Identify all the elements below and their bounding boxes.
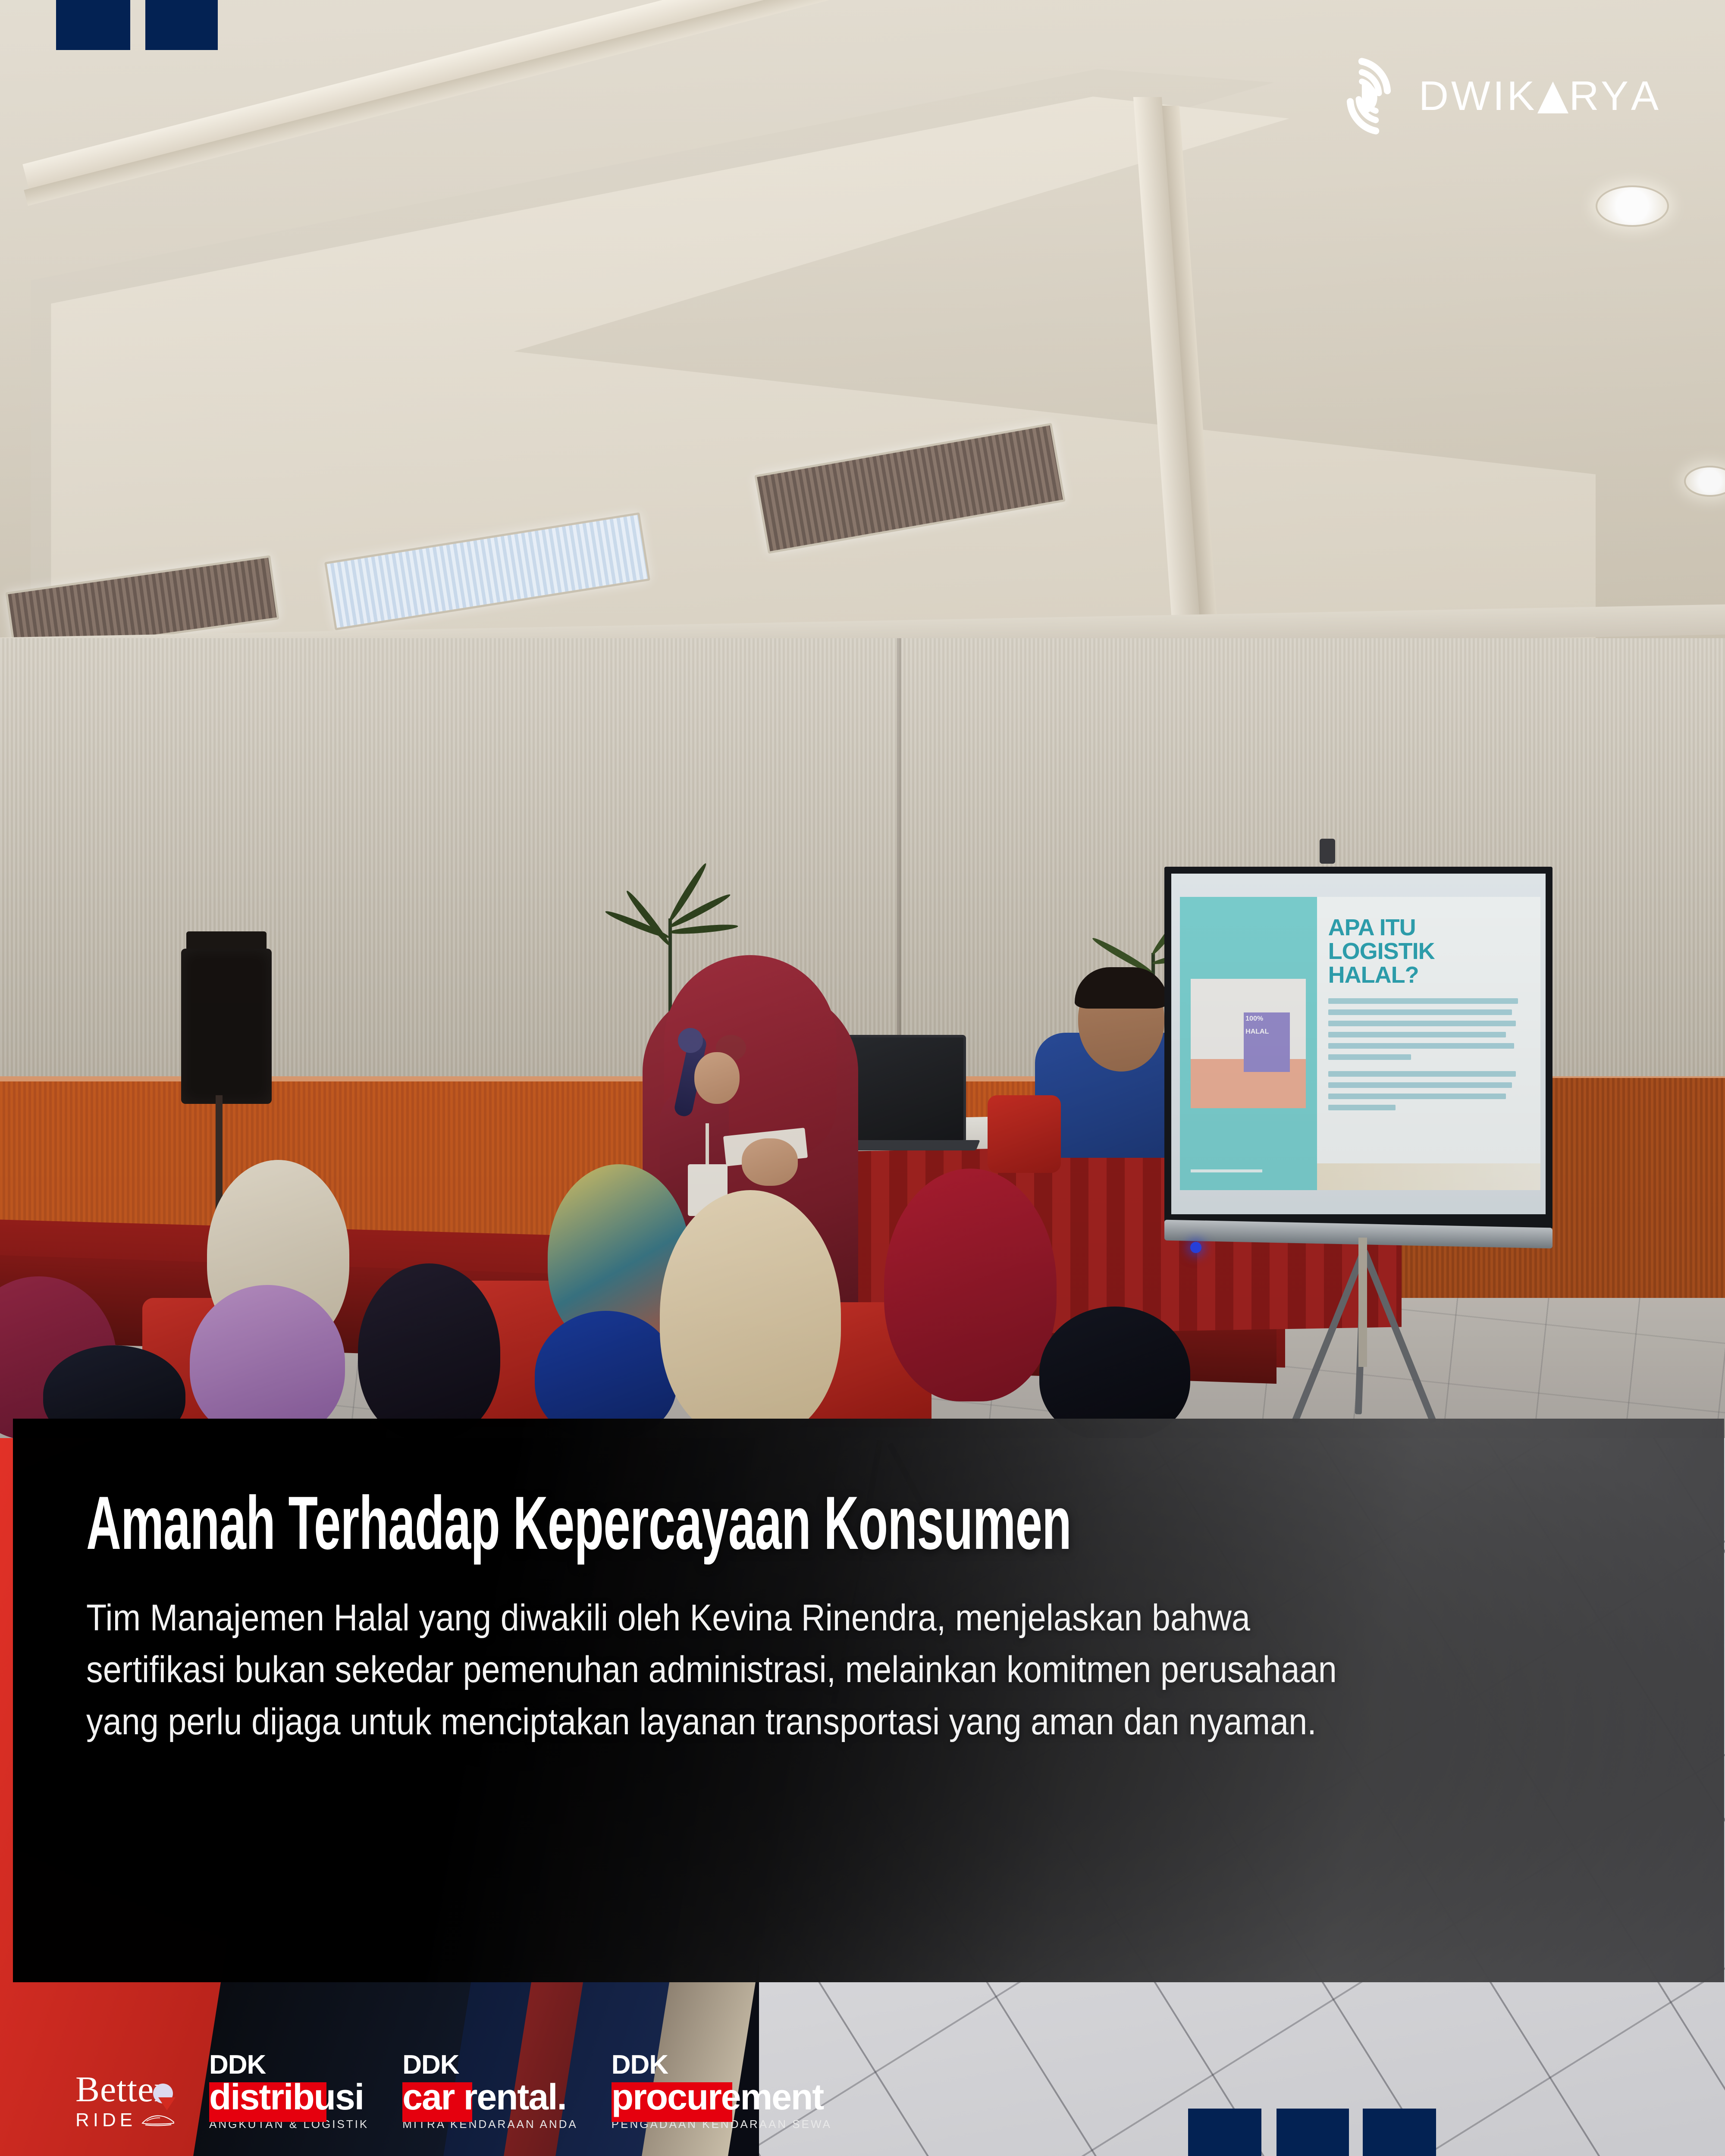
footer-logo-row: Better RIDE DDK distribusi ANGKUTAN & LO… xyxy=(75,2053,832,2131)
ceiling-downlight-1 xyxy=(1596,185,1669,227)
audience-head-4 xyxy=(358,1263,500,1438)
brand-name-part2: RY xyxy=(1569,72,1631,120)
better-ride-ribbon-icon xyxy=(158,2097,176,2110)
ddk-carrental-prefix: DDK xyxy=(402,2053,578,2078)
better-ride-logo: Better RIDE xyxy=(75,2073,176,2131)
audience-head-8 xyxy=(884,1169,1057,1401)
decor-square-bottom-2 xyxy=(1276,2109,1349,2156)
audience-head-7 xyxy=(660,1190,841,1438)
slide-paragraph-2 xyxy=(1328,1071,1526,1110)
ddk-distribusi-prefix: DDK xyxy=(209,2053,369,2078)
signal-waves-icon xyxy=(1330,55,1408,137)
halal-logo-icon: 100% HALAL xyxy=(1244,1012,1290,1072)
better-ride-subword: RIDE xyxy=(75,2109,136,2131)
ceiling-camera-icon xyxy=(1320,839,1335,864)
poster-canvas: 100% HALAL APA ITU LOGISTIK HALAL? xyxy=(0,0,1725,2156)
decor-square-bottom-3 xyxy=(1363,2109,1436,2156)
slide-title-line1: APA ITU xyxy=(1328,916,1526,940)
slide-title: APA ITU LOGISTIK HALAL? xyxy=(1328,916,1526,987)
slide-footer-bar xyxy=(1317,1163,1540,1190)
presenter-hand-holding-notes xyxy=(742,1138,798,1186)
halal-badge-line2: HALAL xyxy=(1244,1025,1290,1038)
halal-badge-line1: 100% xyxy=(1244,1012,1290,1025)
brand-name-part1: DWIK xyxy=(1419,72,1537,120)
dwikarya-wordmark: DWIKRYA xyxy=(1419,72,1661,120)
ddk-distribusi-logo: DDK distribusi ANGKUTAN & LOGISTIK xyxy=(209,2053,369,2131)
triangle-a-icon xyxy=(1537,81,1568,113)
ddk-carrental-logo: DDK car rental. MITRA KENDARAAN ANDA xyxy=(402,2053,578,2131)
presenter-hand-holding-mic xyxy=(694,1052,740,1104)
slide-photo: 100% HALAL xyxy=(1191,979,1306,1108)
chair-behind-table xyxy=(988,1095,1061,1173)
presenter-lanyard xyxy=(706,1123,709,1171)
headline: Amanah Terhadap Kepercayaan Konsumen xyxy=(86,1485,964,1561)
body-paragraph: Tim Manajemen Halal yang diwakili oleh K… xyxy=(86,1592,1379,1748)
event-photo: 100% HALAL APA ITU LOGISTIK HALAL? xyxy=(0,0,1725,1438)
projector-status-led xyxy=(1190,1242,1201,1253)
ddk-procurement-logo: DDK procurement PENGADAAN KENDARAAN SEWA xyxy=(612,2053,832,2131)
ddk-distribusi-name: distribusi xyxy=(209,2079,364,2115)
slide-right-panel: APA ITU LOGISTIK HALAL? xyxy=(1317,897,1540,1190)
loudspeaker xyxy=(181,949,272,1104)
presentation-slide: 100% HALAL APA ITU LOGISTIK HALAL? xyxy=(1180,897,1540,1190)
slide-paragraph-1 xyxy=(1328,998,1526,1060)
audience-head-3 xyxy=(190,1285,345,1438)
decor-square-top-1 xyxy=(56,0,130,50)
ddk-procurement-name: procurement xyxy=(612,2079,823,2115)
ddk-procurement-prefix: DDK xyxy=(612,2053,832,2078)
slide-title-line2: LOGISTIK HALAL? xyxy=(1328,940,1526,987)
slide-rule xyxy=(1191,1169,1262,1172)
car-silhouette-icon xyxy=(141,2110,176,2131)
caption-card: Amanah Terhadap Kepercayaan Konsumen Tim… xyxy=(13,1419,1724,1982)
ddk-carrental-name: car rental. xyxy=(402,2079,566,2115)
microphone-head-icon xyxy=(678,1028,703,1053)
decor-square-bottom-1 xyxy=(1188,2109,1261,2156)
decor-square-top-2 xyxy=(145,0,218,50)
tripod-post xyxy=(1358,1238,1367,1367)
slide-left-panel: 100% HALAL xyxy=(1180,897,1317,1190)
brand-name-part3: A xyxy=(1631,72,1661,120)
dwikarya-logo: DWIKRYA xyxy=(1330,55,1661,137)
